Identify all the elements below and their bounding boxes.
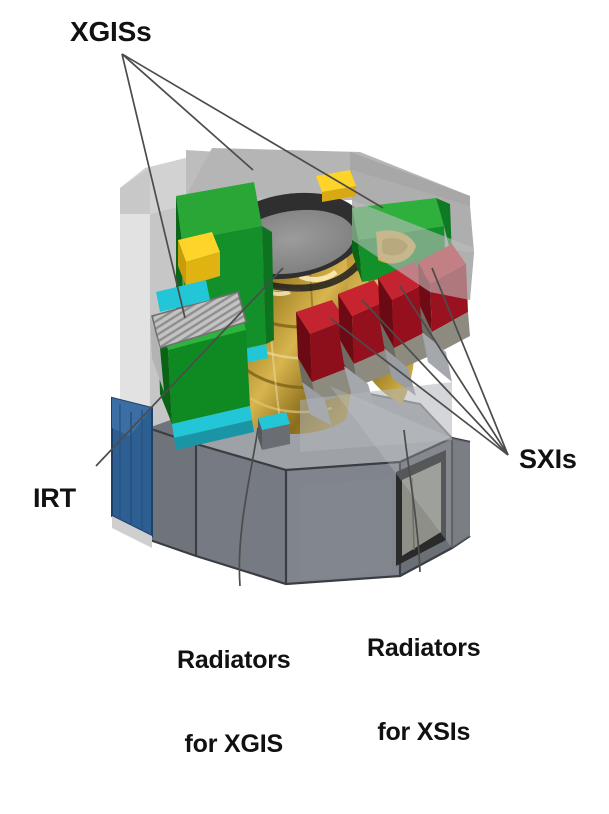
label-radiators-for-xsis: Radiators for XSIs: [367, 578, 481, 802]
label-sxis: SXIs: [519, 444, 577, 474]
xgis-radiator-panel: [112, 398, 152, 548]
label-radiators-for-xgis-line2: for XGIS: [177, 730, 291, 758]
cyan-deck-box: [258, 412, 290, 450]
figure-canvas: XGISs SXIs IRT Radiators for XGIS Radiat…: [0, 0, 609, 694]
label-radiators-for-xsis-line1: Radiators: [367, 634, 481, 662]
label-radiators-for-xgis: Radiators for XGIS: [177, 590, 291, 814]
xsi-radiator-panel-secondary: [300, 478, 392, 580]
label-radiators-for-xgis-line1: Radiators: [177, 646, 291, 674]
label-irt: IRT: [33, 483, 76, 513]
label-radiators-for-xsis-line2: for XSIs: [367, 718, 481, 746]
label-xgiss: XGISs: [70, 16, 151, 47]
spacecraft-illustration: [0, 0, 609, 694]
